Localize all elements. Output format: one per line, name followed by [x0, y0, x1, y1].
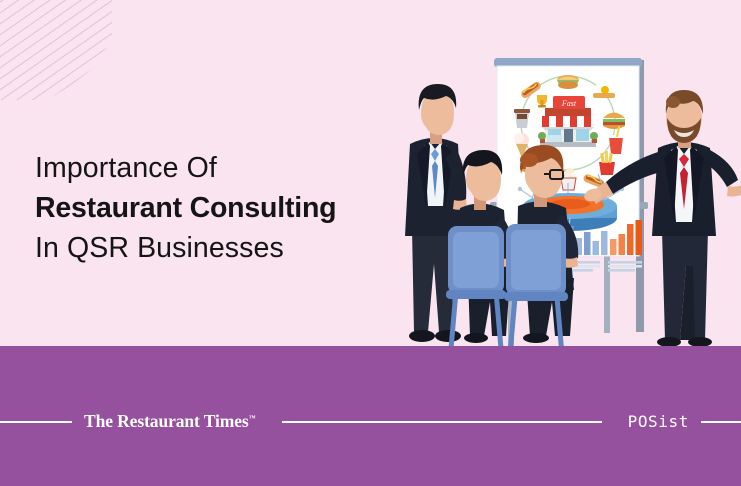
page-title: Importance Of Restaurant Consulting In Q…	[35, 148, 405, 268]
sandwich-icon	[557, 75, 579, 89]
trademark-mark: ™	[249, 414, 256, 422]
promo-banner: Importance Of Restaurant Consulting In Q…	[0, 0, 741, 486]
person-standing-attendee	[405, 84, 467, 342]
trophy-icon	[537, 95, 547, 108]
brand-trt-text: The Restaurant Times	[84, 411, 249, 431]
fried-egg-icon	[593, 83, 615, 98]
headline-line-1: Importance Of	[35, 148, 405, 188]
storefront-sign-text: Fast	[561, 99, 577, 108]
fries-icon	[599, 151, 615, 175]
brand-posist: POSist	[628, 412, 689, 431]
awning	[542, 116, 594, 130]
footer-rule-middle	[282, 421, 602, 423]
footer-rule-left	[0, 421, 72, 423]
diagonal-stripe-decoration	[0, 0, 112, 100]
headline-line-2: Restaurant Consulting	[35, 188, 405, 228]
footer-rule-right	[701, 421, 741, 423]
brand-the-restaurant-times: The Restaurant Times™	[84, 411, 256, 432]
footer-band: The Restaurant Times™ POSist	[0, 346, 741, 486]
footer-brand-row: The Restaurant Times™ POSist	[0, 410, 741, 434]
headline-line-3: In QSR Businesses	[35, 228, 405, 268]
illustration-scene: Fast	[390, 40, 741, 352]
